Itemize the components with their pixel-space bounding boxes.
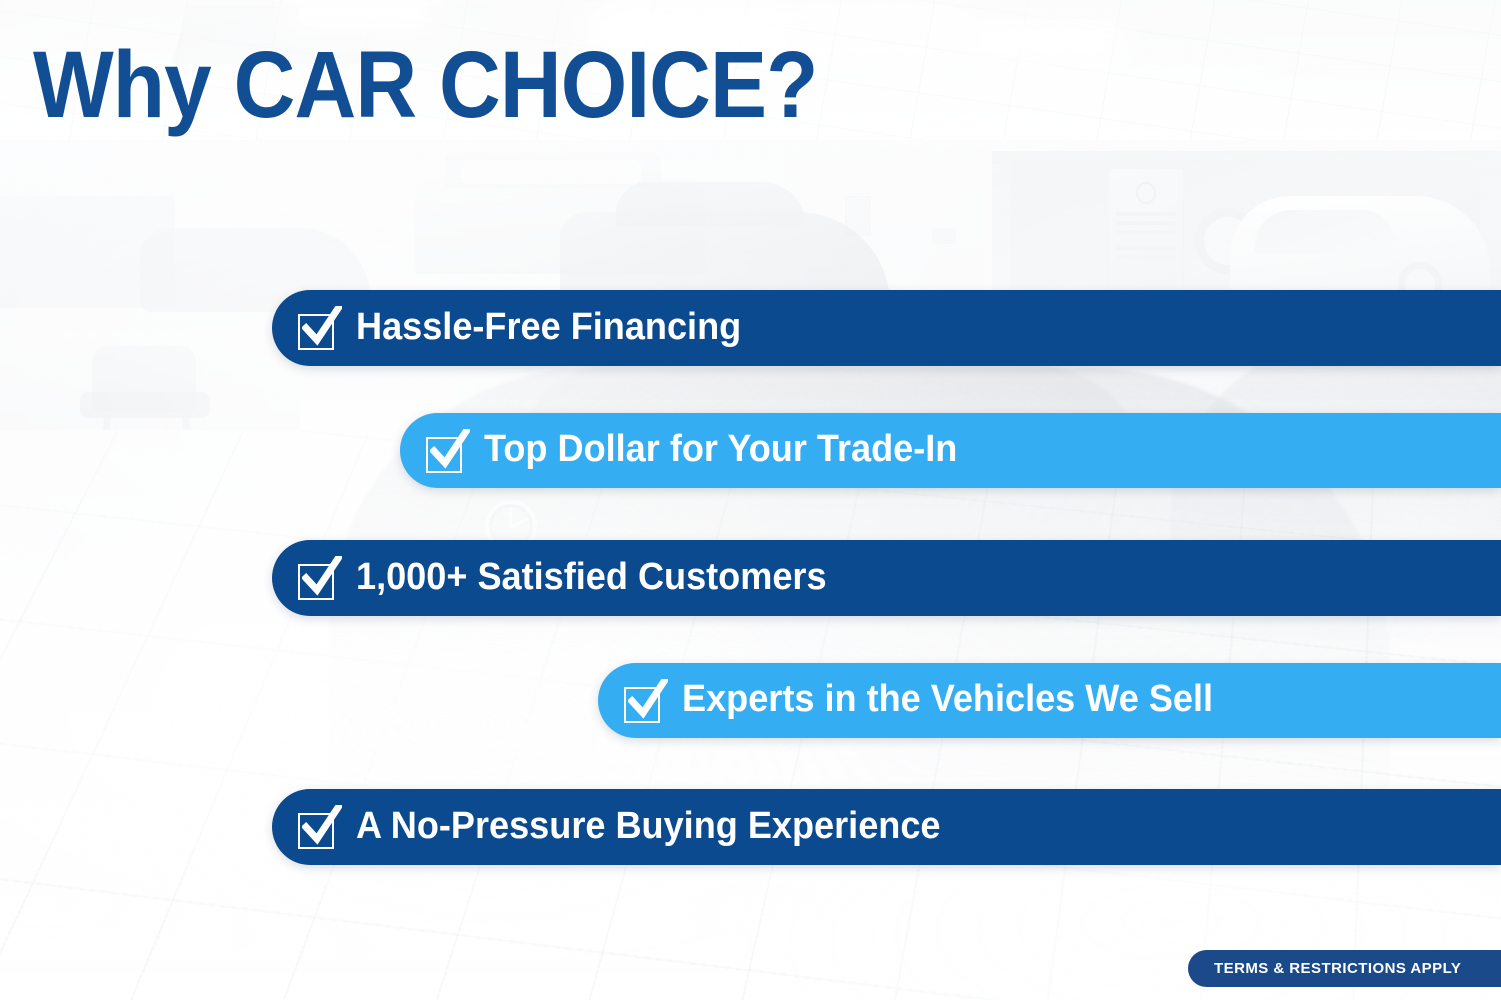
terms-and-restrictions-badge: TERMS & RESTRICTIONS APPLY (1188, 950, 1501, 987)
feature-label: Top Dollar for Your Trade-In (484, 430, 957, 471)
feature-bar-no-pressure-buying[interactable]: A No-Pressure Buying Experience (272, 789, 1501, 865)
checkbox-checked-icon (426, 431, 466, 471)
feature-bar-satisfied-customers[interactable]: 1,000+ Satisfied Customers (272, 540, 1501, 616)
feature-bar-vehicle-experts[interactable]: Experts in the Vehicles We Sell (598, 663, 1501, 738)
feature-bar-top-dollar-trade-in[interactable]: Top Dollar for Your Trade-In (400, 413, 1501, 488)
checkbox-checked-icon (298, 558, 338, 598)
page-title: Why CAR CHOICE? (33, 38, 817, 133)
feature-label: 1,000+ Satisfied Customers (356, 558, 827, 599)
checkbox-checked-icon (624, 681, 664, 721)
feature-label: Experts in the Vehicles We Sell (682, 680, 1213, 721)
feature-label: Hassle-Free Financing (356, 308, 741, 349)
checkbox-checked-icon (298, 807, 338, 847)
promo-poster: Why CAR CHOICE? Hassle-Free Financing To… (0, 0, 1501, 1000)
feature-bar-hassle-free-financing[interactable]: Hassle-Free Financing (272, 290, 1501, 366)
checkbox-checked-icon (298, 308, 338, 348)
feature-label: A No-Pressure Buying Experience (356, 807, 940, 848)
